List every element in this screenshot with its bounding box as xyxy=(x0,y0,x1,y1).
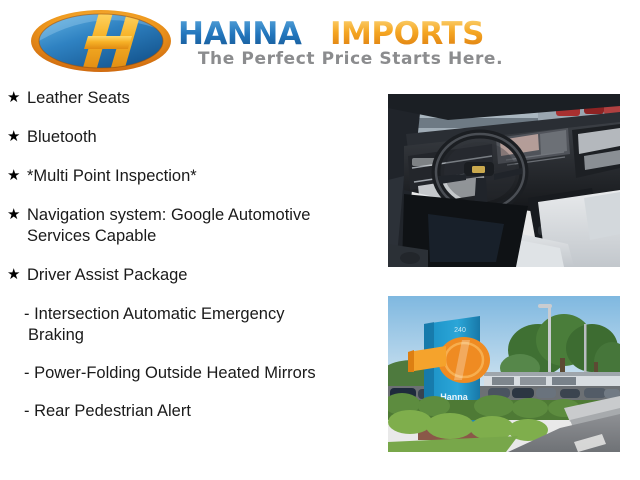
sub-list-item: - Intersection Automatic Emergency Braki… xyxy=(0,304,380,346)
star-icon: ★ xyxy=(0,127,27,147)
sub-list-item: - Rear Pedestrian Alert xyxy=(0,401,380,422)
list-item: ★ Bluetooth xyxy=(0,127,380,148)
feature-label: Leather Seats xyxy=(27,88,380,109)
sub-list-item: - Power-Folding Outside Heated Mirrors xyxy=(0,363,380,384)
brand-tagline: The Perfect Price Starts Here. xyxy=(178,49,523,69)
list-item: ★ Driver Assist Package xyxy=(0,265,380,286)
feature-label: Driver Assist Package xyxy=(27,265,380,286)
star-icon: ★ xyxy=(0,88,27,108)
feature-label: Bluetooth xyxy=(27,127,380,148)
list-item: ★ *Multi Point Inspection* xyxy=(0,166,380,187)
features-list: ★ Leather Seats ★ Bluetooth ★ *Multi Poi… xyxy=(0,88,380,439)
vehicle-interior-photo[interactable] xyxy=(388,94,620,267)
star-icon: ★ xyxy=(0,166,27,186)
svg-text:HANNA: HANNA xyxy=(178,16,302,51)
svg-text:240: 240 xyxy=(454,327,466,334)
brand-header: HANNA IMPORTS The Perfect Price Starts H… xyxy=(0,0,640,84)
svg-text:IMPORTS: IMPORTS xyxy=(330,16,484,51)
dealership-exterior-photo[interactable]: 240 Hanna IMPORTS xyxy=(388,296,620,452)
hanna-imports-wordmark: HANNA IMPORTS xyxy=(178,15,523,51)
list-item: ★ Leather Seats xyxy=(0,88,380,109)
feature-label: Navigation system: Google Automotive Ser… xyxy=(27,205,380,247)
feature-label: *Multi Point Inspection* xyxy=(27,166,380,187)
list-item: ★ Navigation system: Google Automotive S… xyxy=(0,205,380,247)
star-icon: ★ xyxy=(0,265,27,285)
star-icon: ★ xyxy=(0,205,27,225)
hanna-oval-h-logo-icon xyxy=(26,9,176,73)
